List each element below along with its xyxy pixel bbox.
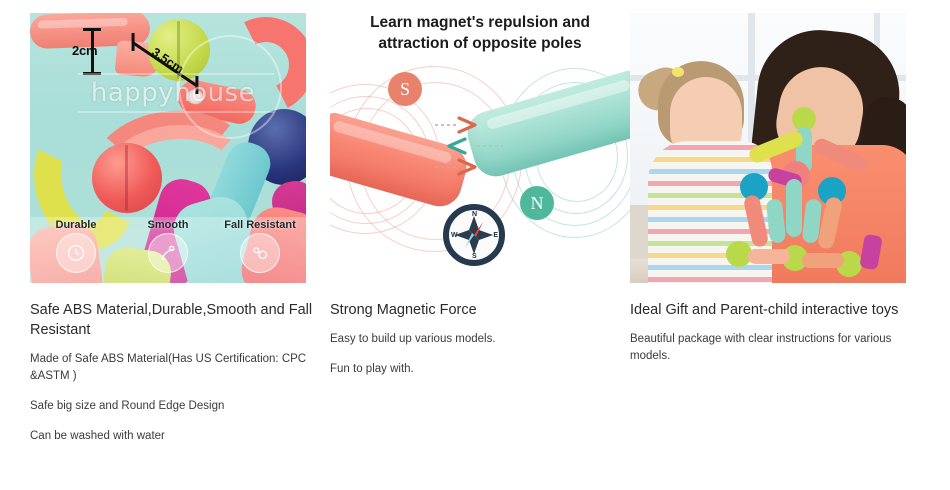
polish-hand-icon <box>148 233 188 273</box>
child-hair-tie <box>672 67 684 77</box>
magnet-poles-diagram: S N N E S W <box>330 58 630 283</box>
feature-column-3: Ideal Gift and Parent-child interactive … <box>630 0 930 490</box>
pole-badge-north: N <box>520 186 554 220</box>
feature-badge-smooth: Smooth <box>122 217 214 283</box>
feature-title-3: Ideal Gift and Parent-child interactive … <box>630 300 930 320</box>
feature-badge-label: Durable <box>30 219 122 231</box>
feature-badge-fall-resistant: Fall Resistant <box>214 217 306 283</box>
compass-icon: N E S W <box>443 204 505 266</box>
product-feature-page: 2cm 3.5cm happyhouse Durable <box>0 0 950 490</box>
pole-badge-south: S <box>388 72 422 106</box>
feature-badge-strip: Durable Smooth Fal <box>30 217 306 283</box>
feature-line: Safe big size and Round Edge Design <box>30 398 330 415</box>
toy-stick <box>786 179 802 237</box>
feature-title-2: Strong Magnetic Force <box>330 300 630 320</box>
feature-column-2: Learn magnet's repulsion and attraction … <box>330 0 630 490</box>
feature-text-block-3: Ideal Gift and Parent-child interactive … <box>630 300 930 365</box>
toy-red-ball <box>92 143 162 213</box>
mother-and-child-playing-photo <box>630 13 906 283</box>
feature-line: Made of Safe ABS Material(Has US Certifi… <box>30 351 330 385</box>
feature-line: Easy to build up various models. <box>330 331 630 348</box>
toy-stick <box>748 249 790 264</box>
feature-line: Can be washed with water <box>30 428 330 445</box>
product-photo-magnet-sticks: 2cm 3.5cm happyhouse Durable <box>30 13 306 283</box>
dimension-2cm-text: 2cm <box>72 41 97 58</box>
feature-title-1: Safe ABS Material,Durable,Smooth and Fal… <box>30 300 330 340</box>
force-arrows <box>435 116 515 178</box>
feature-badge-durable: Durable <box>30 217 122 283</box>
feature-text-block-1: Safe ABS Material,Durable,Smooth and Fal… <box>30 300 330 445</box>
feature-text-block-2: Strong Magnetic Force Easy to build up v… <box>330 300 630 378</box>
dimension-label-height: 2cm <box>72 41 97 58</box>
feature-badge-label: Fall Resistant <box>214 219 306 231</box>
feature-line: Beautiful package with clear instruction… <box>630 331 930 365</box>
magnet-heading: Learn magnet's repulsion and attraction … <box>336 12 624 54</box>
drop-impact-icon <box>240 233 280 273</box>
toy-stick <box>802 253 844 268</box>
feature-line: Fun to play with. <box>330 361 630 378</box>
feature-badge-label: Smooth <box>122 219 214 231</box>
feature-column-1: 2cm 3.5cm happyhouse Durable <box>30 0 330 490</box>
shield-clock-icon <box>56 233 96 273</box>
